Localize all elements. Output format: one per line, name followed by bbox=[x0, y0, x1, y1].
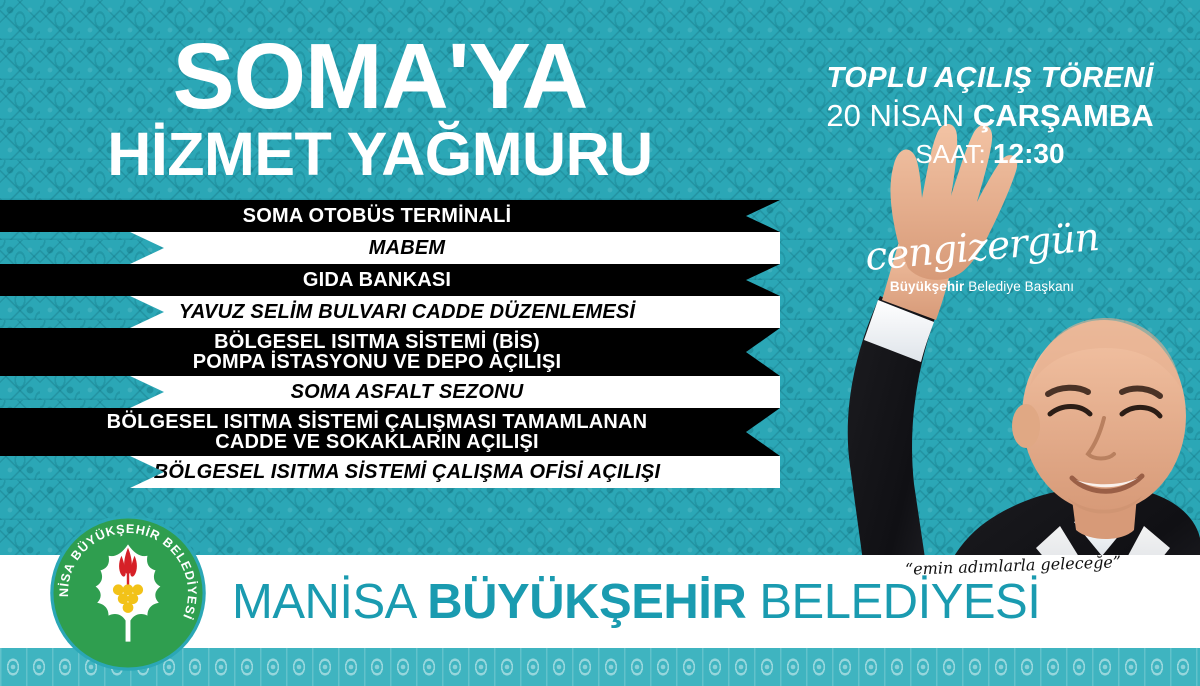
program-banner: GIDA BANKASI bbox=[0, 264, 780, 296]
footer-title-part-1: MANİSA bbox=[232, 575, 427, 629]
event-date-weekday: ÇARŞAMBA bbox=[973, 98, 1154, 133]
mayor-role-bold: Büyükşehir bbox=[890, 279, 965, 294]
program-banner: MABEM bbox=[0, 232, 780, 264]
program-banner-label: BÖLGESEL ISITMA SİSTEMİ ÇALIŞMA OFİSİ AÇ… bbox=[120, 462, 660, 482]
program-banner-list: SOMA OTOBÜS TERMİNALİMABEMGIDA BANKASIYA… bbox=[0, 200, 780, 488]
program-banner-label: BÖLGESEL ISITMA SİSTEMİ (BİS)POMPA İSTAS… bbox=[193, 332, 587, 373]
program-banner: BÖLGESEL ISITMA SİSTEMİ ÇALIŞMASI TAMAML… bbox=[0, 408, 780, 456]
event-date: 20 NİSAN ÇARŞAMBA bbox=[790, 97, 1190, 136]
footer-title-part-3: BELEDİYESİ bbox=[746, 575, 1040, 629]
poster-canvas: SOMA'YA HİZMET YAĞMURU TOPLU AÇILIŞ TÖRE… bbox=[0, 0, 1200, 686]
program-banner-label: SOMA ASFALT SEZONU bbox=[257, 382, 524, 402]
footer-municipality-title: MANİSA BÜYÜKŞEHİR BELEDİYESİ bbox=[232, 578, 1040, 627]
event-time-label: SAAT: bbox=[915, 139, 993, 169]
program-banner: SOMA ASFALT SEZONU bbox=[0, 376, 780, 408]
program-banner-label: SOMA OTOBÜS TERMİNALİ bbox=[243, 206, 538, 226]
program-banner: BÖLGESEL ISITMA SİSTEMİ (BİS)POMPA İSTAS… bbox=[0, 328, 780, 376]
program-banner-label: YAVUZ SELİM BULVARI CADDE DÜZENLEMESİ bbox=[145, 302, 635, 322]
mayor-role: Büyükşehir Belediye Başkanı bbox=[862, 279, 1102, 294]
program-banner-label: BÖLGESEL ISITMA SİSTEMİ ÇALIŞMASI TAMAML… bbox=[107, 412, 674, 453]
program-banner: YAVUZ SELİM BULVARI CADDE DÜZENLEMESİ bbox=[0, 296, 780, 328]
event-time: SAAT: 12:30 bbox=[790, 136, 1190, 171]
program-banner-label: MABEM bbox=[335, 238, 446, 258]
mayor-signature-block: cengizergün Büyükşehir Belediye Başkanı bbox=[862, 228, 1102, 294]
event-time-value: 12:30 bbox=[993, 138, 1065, 169]
manisa-municipality-logo: MANİSA BÜYÜKŞEHİR BELEDİYESİ bbox=[47, 512, 209, 674]
mayor-role-rest: Belediye Başkanı bbox=[964, 279, 1074, 294]
program-banner: BÖLGESEL ISITMA SİSTEMİ ÇALIŞMA OFİSİ AÇ… bbox=[0, 456, 780, 488]
event-title: TOPLU AÇILIŞ TÖRENİ bbox=[790, 62, 1190, 95]
program-banner: SOMA OTOBÜS TERMİNALİ bbox=[0, 200, 780, 232]
event-date-day: 20 NİSAN bbox=[826, 98, 972, 133]
program-banner-label: GIDA BANKASI bbox=[303, 270, 477, 290]
event-info-block: TOPLU AÇILIŞ TÖRENİ 20 NİSAN ÇARŞAMBA SA… bbox=[790, 62, 1190, 171]
footer-title-part-2: BÜYÜKŞEHİR bbox=[427, 575, 746, 629]
